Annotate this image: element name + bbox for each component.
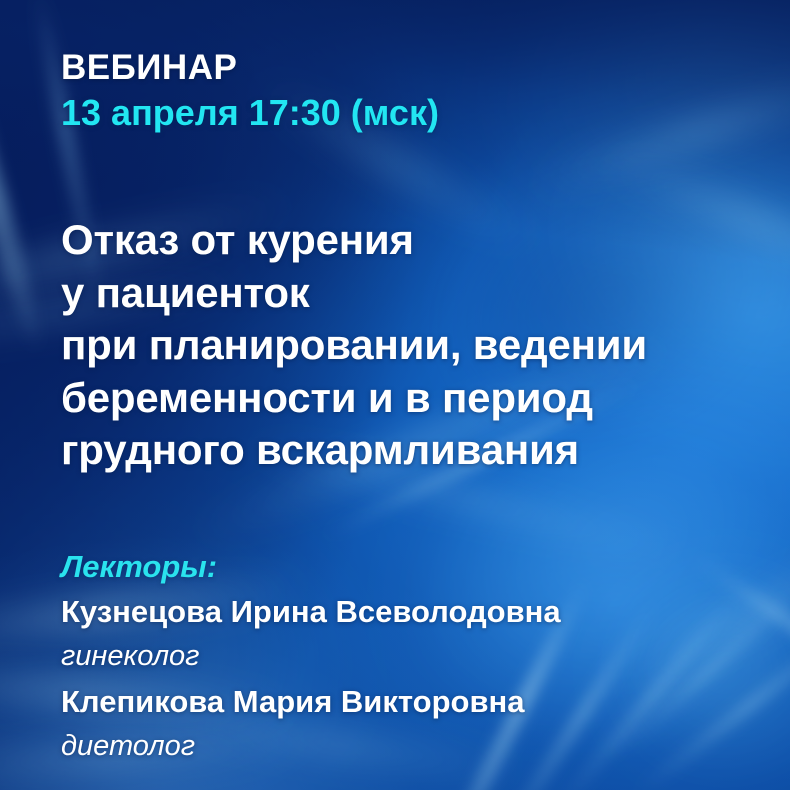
poster-content: ВЕБИНАР 13 апреля 17:30 (мск) Отказ от к… xyxy=(0,0,790,790)
lecturers-label: Лекторы: xyxy=(61,545,561,589)
webinar-datetime: 13 апреля 17:30 (мск) xyxy=(61,90,439,136)
title-line-4: беременности и в период xyxy=(61,372,647,425)
lecturer-item: Клепикова Мария Викторовна диетолог xyxy=(61,679,561,769)
webinar-poster: ВЕБИНАР 13 апреля 17:30 (мск) Отказ от к… xyxy=(0,0,790,790)
lecturer-item: Кузнецова Ирина Всеволодовна гинеколог xyxy=(61,589,561,679)
page-title: Отказ от курения у пациенток при планиро… xyxy=(61,214,647,477)
lecturer-name: Клепикова Мария Викторовна xyxy=(61,679,561,724)
webinar-kicker: ВЕБИНАР xyxy=(61,46,439,90)
title-line-2: у пациенток xyxy=(61,267,647,320)
lecturer-name: Кузнецова Ирина Всеволодовна xyxy=(61,589,561,634)
lecturer-role: гинеколог xyxy=(61,634,561,679)
title-line-3: при планировании, ведении xyxy=(61,319,647,372)
header-block: ВЕБИНАР 13 апреля 17:30 (мск) xyxy=(61,46,439,136)
title-line-1: Отказ от курения xyxy=(61,214,647,267)
title-line-5: грудного вскармливания xyxy=(61,424,647,477)
lecturer-role: диетолог xyxy=(61,724,561,769)
lecturers-section: Лекторы: Кузнецова Ирина Всеволодовна ги… xyxy=(61,545,561,769)
